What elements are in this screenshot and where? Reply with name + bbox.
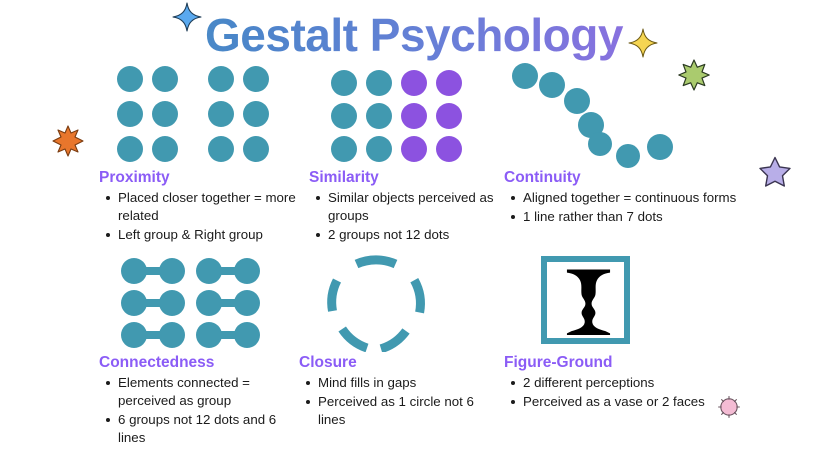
list-item: Placed closer together = more related (118, 189, 304, 225)
list-item: 2 groups not 12 dots (328, 226, 494, 244)
yellow-sparkle-icon (628, 28, 658, 58)
dot (243, 101, 269, 127)
bullet-list-similarity: Similar objects perceived as groups 2 gr… (309, 189, 494, 243)
dot (616, 144, 640, 168)
dot (208, 66, 234, 92)
pink-gear-badge-icon (716, 394, 742, 420)
section-heading-closure: Closure (299, 353, 479, 372)
dot (196, 258, 222, 284)
dot (436, 103, 462, 129)
list-item: Left group & Right group (118, 226, 304, 244)
list-item: Perceived as a vase or 2 faces (523, 393, 714, 411)
dot (159, 258, 185, 284)
orange-eight-point-star-icon (52, 125, 84, 157)
dot (234, 258, 260, 284)
dot (208, 101, 234, 127)
section-figure-ground: Figure-Ground 2 different perceptions Pe… (504, 353, 714, 412)
dot (121, 258, 147, 284)
dot (117, 136, 143, 162)
dot (401, 136, 427, 162)
bullet-list-proximity: Placed closer together = more related Le… (99, 189, 304, 243)
dot (121, 322, 147, 348)
dot (539, 72, 565, 98)
dot (512, 63, 538, 89)
dot (401, 70, 427, 96)
dot (243, 136, 269, 162)
list-item: 1 line rather than 7 dots (523, 208, 752, 226)
dot (152, 66, 178, 92)
dot (243, 66, 269, 92)
dot (196, 290, 222, 316)
infographic-canvas: Gestalt Psychology (0, 0, 828, 453)
bullet-list-continuity: Aligned together = continuous forms 1 li… (504, 189, 752, 226)
section-connectedness: Connectedness Elements connected = perce… (99, 353, 295, 448)
dot (234, 290, 260, 316)
dot (152, 101, 178, 127)
dot (436, 70, 462, 96)
figure-closure (311, 252, 441, 352)
list-item: Aligned together = continuous forms (523, 189, 752, 207)
bullet-list-closure: Mind fills in gaps Perceived as 1 circle… (299, 374, 479, 428)
dot (196, 322, 222, 348)
list-item: Mind fills in gaps (318, 374, 479, 392)
dot (331, 136, 357, 162)
figure-figure-ground (541, 256, 630, 344)
section-heading-connectedness: Connectedness (99, 353, 295, 372)
dot (647, 134, 673, 160)
bullet-list-figure-ground: 2 different perceptions Perceived as a v… (504, 374, 714, 411)
dot (117, 101, 143, 127)
rubin-vase-image (550, 265, 621, 335)
page-title: Gestalt Psychology (0, 8, 828, 62)
dot (234, 322, 260, 348)
section-heading-similarity: Similarity (309, 168, 494, 187)
dot (152, 136, 178, 162)
section-closure: Closure Mind fills in gaps Perceived as … (299, 353, 479, 430)
section-heading-figure-ground: Figure-Ground (504, 353, 714, 372)
section-similarity: Similarity Similar objects perceived as … (309, 168, 494, 245)
dot (331, 103, 357, 129)
section-heading-continuity: Continuity (504, 168, 752, 187)
dot (401, 103, 427, 129)
list-item: Elements connected = perceived as group (118, 374, 295, 410)
dot (117, 66, 143, 92)
dot (436, 136, 462, 162)
dot (331, 70, 357, 96)
section-proximity: Proximity Placed closer together = more … (99, 168, 304, 245)
dot (208, 136, 234, 162)
dot (159, 322, 185, 348)
dot (564, 88, 590, 114)
section-continuity: Continuity Aligned together = continuous… (504, 168, 752, 227)
dot (366, 136, 392, 162)
list-item: Similar objects perceived as groups (328, 189, 494, 225)
list-item: 2 different perceptions (523, 374, 714, 392)
blue-sparkle-icon (172, 2, 202, 32)
list-item: Perceived as 1 circle not 6 lines (318, 393, 479, 429)
bullet-list-connectedness: Elements connected = perceived as group … (99, 374, 295, 446)
dot (159, 290, 185, 316)
green-asterisk-star-icon (677, 58, 711, 92)
purple-rounded-star-icon (758, 155, 792, 189)
list-item: 6 groups not 12 dots and 6 lines (118, 411, 295, 447)
dot (121, 290, 147, 316)
dot (366, 70, 392, 96)
dot (366, 103, 392, 129)
section-heading-proximity: Proximity (99, 168, 304, 187)
dot (588, 132, 612, 156)
